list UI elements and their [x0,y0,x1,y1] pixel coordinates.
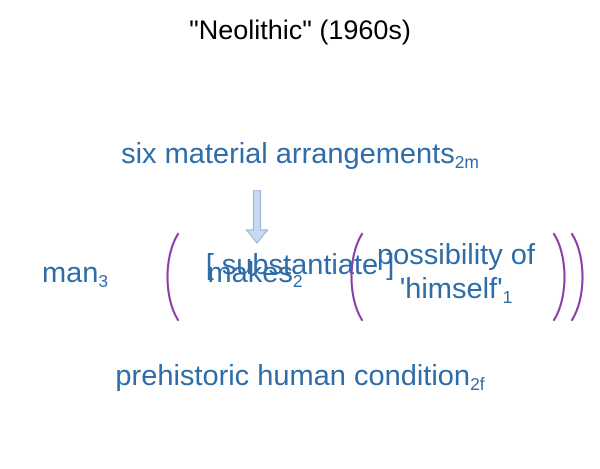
bottom-item-makes-text: makes [207,257,292,289]
slide-canvas: "Neolithic" (1960s) six material arrange… [0,0,600,400]
page-title: "Neolithic" (1960s) [0,14,600,46]
bottom-item-makes: makes2 [185,256,325,290]
bottom-item-possibility-subscript: 1 [503,287,513,307]
stanza-line-1-subscript: 2m [455,152,479,172]
stanza-line-1-text: six material arrangements [121,138,455,170]
arrow-down-icon [241,190,273,244]
stanza-line-1: six material arrangements2m [0,136,600,173]
bottom-item-possibility: possibility of'himself'1 [358,238,554,306]
bottom-item-makes-subscript: 2 [293,271,303,291]
paren-open-inner [342,232,368,322]
paren-close-outer [566,232,592,322]
stanza-line-3-subscript: 2f [470,374,485,394]
bottom-item-possibility-line1: possibility of [377,239,535,271]
stanza-line-3-text: prehistoric human condition [115,360,470,392]
bottom-row: man3 makes2 possibility of'himself'1 [0,238,600,324]
bottom-item-man-subscript: 3 [98,271,108,291]
page-title-text: "Neolithic" (1960s) [189,15,411,45]
bottom-item-possibility-line2: 'himself' [400,273,503,305]
bottom-item-man: man3 [10,256,140,290]
paren-open-outer [158,232,184,322]
stanza-line-3: prehistoric human condition2f [0,358,600,395]
bottom-item-man-text: man [42,257,98,289]
